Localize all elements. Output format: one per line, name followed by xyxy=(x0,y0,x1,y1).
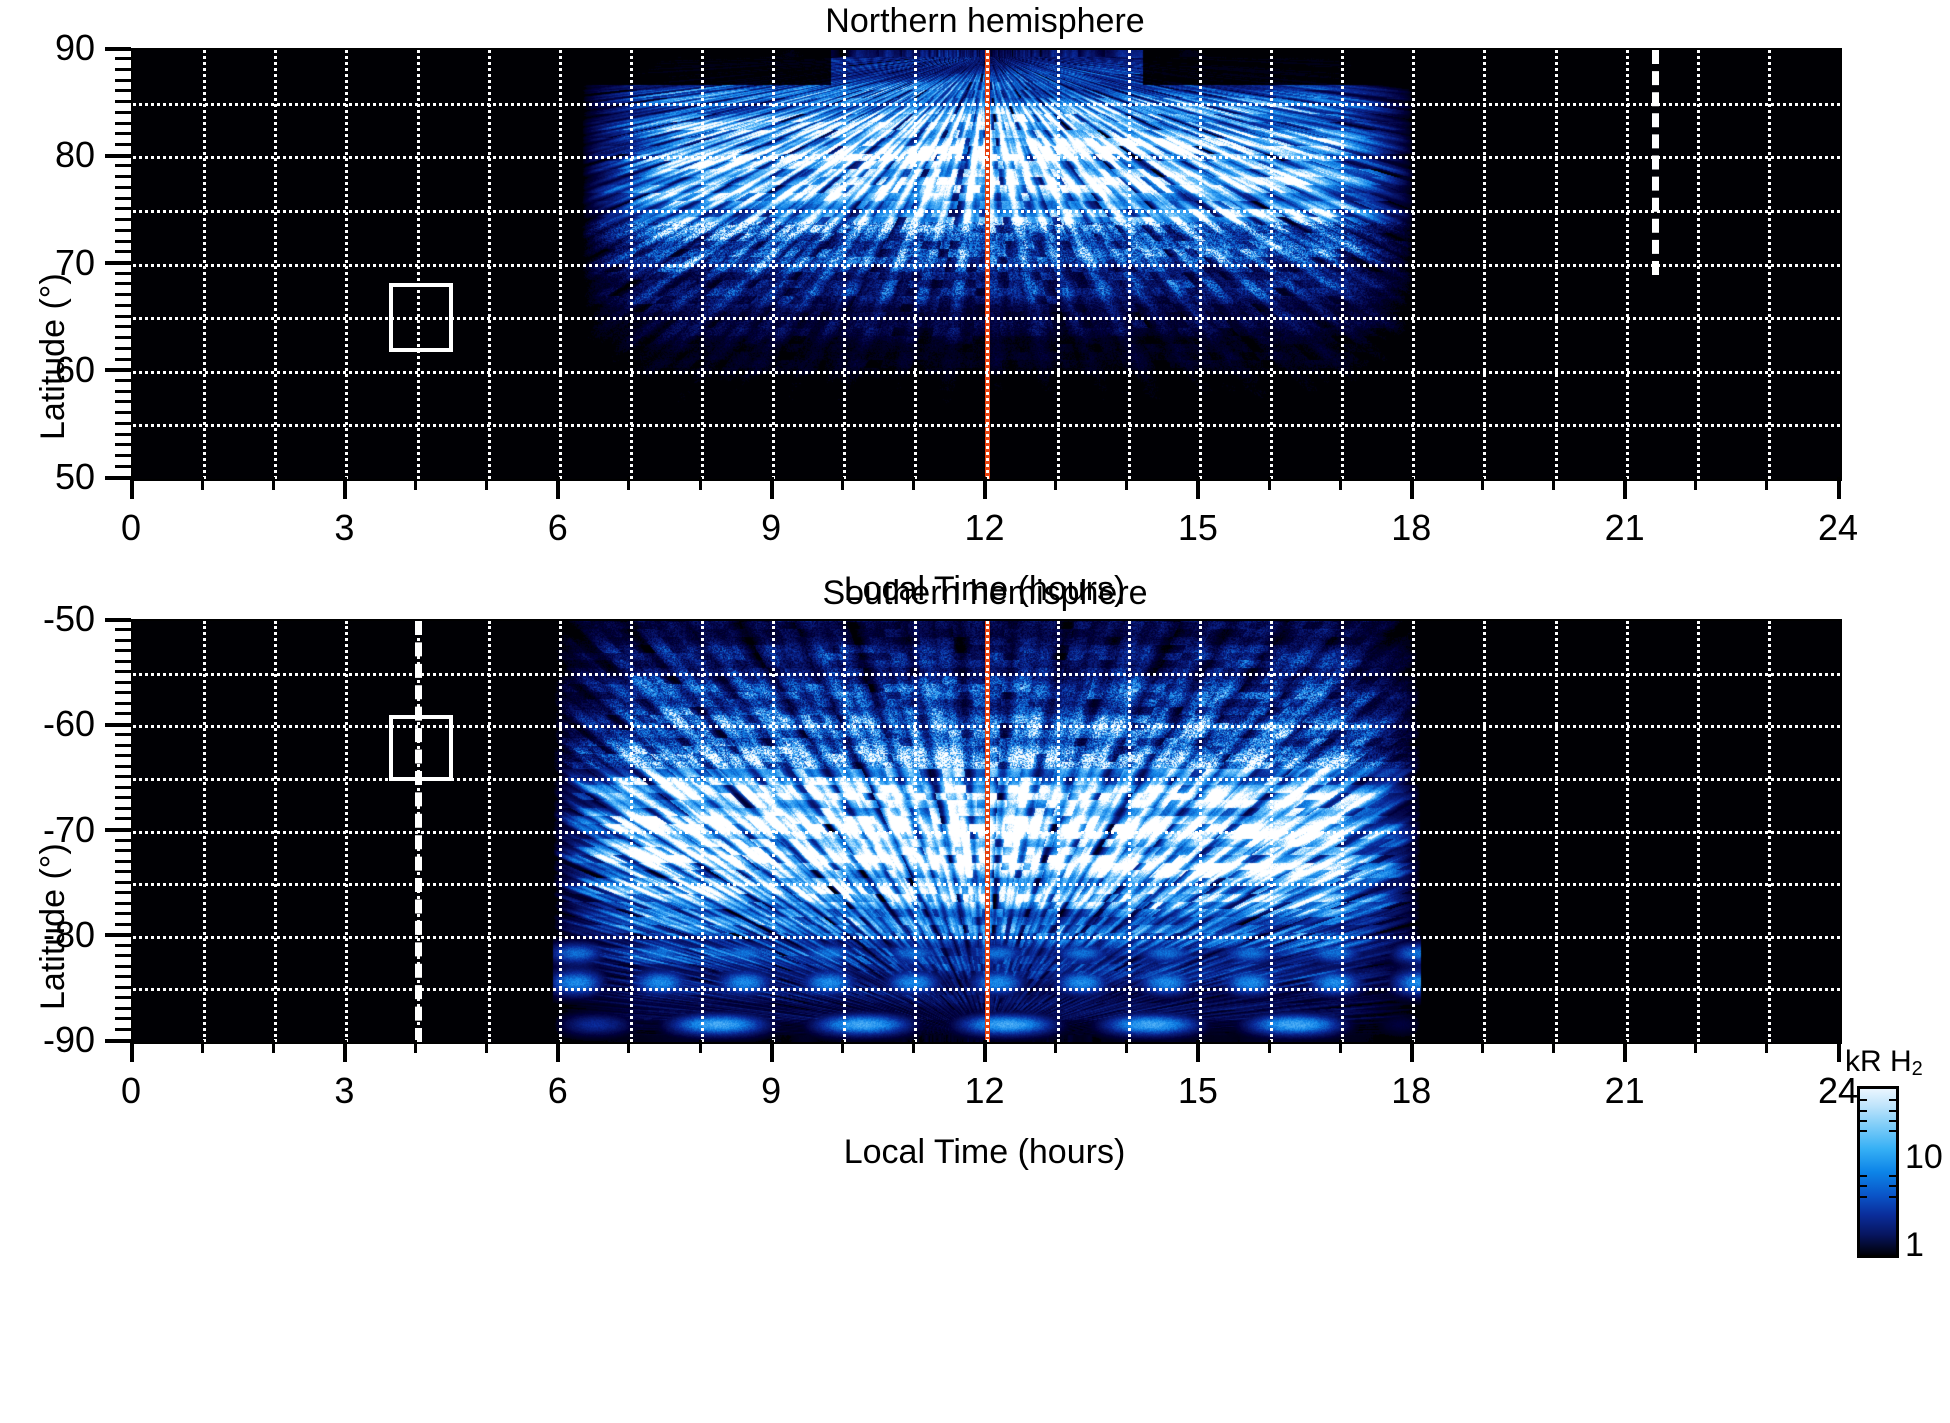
xtick-minor xyxy=(912,477,915,490)
xtick-major xyxy=(1837,1040,1841,1062)
xaxis-label-southern: Local Time (hours) xyxy=(131,1133,1838,1172)
ytick-minor xyxy=(115,691,131,694)
ytick-minor xyxy=(115,143,131,146)
xtick-label: 3 xyxy=(334,507,354,549)
xtick-major xyxy=(1196,477,1200,499)
xtick-minor xyxy=(1125,477,1128,490)
ytick-minor xyxy=(115,465,131,468)
ytick-minor xyxy=(115,839,131,842)
ytick-minor xyxy=(115,358,131,361)
ytick-minor xyxy=(115,111,131,114)
xtick-major xyxy=(1196,1040,1200,1062)
xtick-minor xyxy=(841,477,844,490)
xtick-label: 21 xyxy=(1605,1070,1645,1112)
ytick-minor xyxy=(115,315,131,318)
ytick-minor xyxy=(115,443,131,446)
xtick-minor xyxy=(485,477,488,490)
ytick-label: 60 xyxy=(0,349,95,391)
colorbar-minor-tick xyxy=(1889,1099,1896,1101)
ytick-minor xyxy=(115,881,131,884)
xtick-minor xyxy=(699,477,702,490)
ytick-label: -50 xyxy=(0,598,95,640)
ytick-label: 90 xyxy=(0,27,95,69)
ytick-minor xyxy=(115,390,131,393)
xtick-minor xyxy=(1694,1040,1697,1053)
xtick-minor xyxy=(912,1040,915,1053)
ytick-minor xyxy=(115,765,131,768)
xtick-minor xyxy=(627,477,630,490)
colorbar-minor-tick xyxy=(1889,1185,1896,1187)
ytick-minor xyxy=(115,849,131,852)
ytick-minor xyxy=(115,986,131,989)
xtick-minor xyxy=(272,477,275,490)
xtick-label: 18 xyxy=(1391,507,1431,549)
ytick-minor xyxy=(115,860,131,863)
gridline-horizontal xyxy=(133,264,1840,267)
ytick-minor xyxy=(115,325,131,328)
gridline-horizontal xyxy=(133,156,1840,159)
xtick-minor xyxy=(1552,1040,1555,1053)
plot-area-southern[interactable] xyxy=(131,619,1842,1044)
xtick-major xyxy=(983,477,987,499)
ytick-minor xyxy=(115,132,131,135)
ytick-minor xyxy=(115,754,131,757)
xtick-label: 0 xyxy=(121,1070,141,1112)
xtick-major xyxy=(1837,477,1841,499)
xtick-minor xyxy=(1054,1040,1057,1053)
xtick-major xyxy=(130,1040,134,1062)
xtick-major xyxy=(770,477,774,499)
ytick-minor xyxy=(115,68,131,71)
xtick-major xyxy=(1410,1040,1414,1062)
xtick-minor xyxy=(201,1040,204,1053)
ytick-minor xyxy=(115,996,131,999)
xtick-minor xyxy=(1765,1040,1768,1053)
colorbar-minor-tick xyxy=(1860,1175,1867,1177)
colorbar-minor-tick xyxy=(1860,1185,1867,1187)
xtick-major xyxy=(130,477,134,499)
gridline-horizontal xyxy=(133,673,1840,676)
ytick-minor xyxy=(115,293,131,296)
colorbar-minor-tick xyxy=(1860,1120,1867,1122)
ytick-minor xyxy=(115,944,131,947)
ytick-major xyxy=(105,933,131,937)
gridline-horizontal xyxy=(133,883,1840,886)
ytick-minor xyxy=(115,175,131,178)
xtick-label: 9 xyxy=(761,1070,781,1112)
ytick-major xyxy=(105,1039,131,1043)
ytick-minor xyxy=(115,660,131,663)
colorbar-minor-tick xyxy=(1860,1110,1867,1112)
ytick-minor xyxy=(115,379,131,382)
ytick-minor xyxy=(115,807,131,810)
colorbar-minor-tick xyxy=(1860,1130,1867,1132)
xtick-minor xyxy=(1481,477,1484,490)
ytick-major xyxy=(105,261,131,265)
xtick-label: 3 xyxy=(334,1070,354,1112)
xtick-minor xyxy=(1054,477,1057,490)
colorbar-minor-tick xyxy=(1860,1196,1867,1198)
ytick-minor xyxy=(115,218,131,221)
xtick-minor xyxy=(272,1040,275,1053)
ytick-minor xyxy=(115,229,131,232)
ytick-minor xyxy=(115,870,131,873)
ytick-major xyxy=(105,723,131,727)
ytick-minor xyxy=(115,712,131,715)
xtick-major xyxy=(1623,477,1627,499)
ytick-minor xyxy=(115,954,131,957)
xtick-minor xyxy=(1552,477,1555,490)
ytick-minor xyxy=(115,164,131,167)
ytick-minor xyxy=(115,304,131,307)
xtick-minor xyxy=(1765,477,1768,490)
xtick-major xyxy=(770,1040,774,1062)
xtick-minor xyxy=(1339,1040,1342,1053)
colorbar-title-subscript: 2 xyxy=(1912,1058,1923,1080)
gridline-horizontal xyxy=(133,103,1840,106)
xtick-major xyxy=(983,1040,987,1062)
xtick-minor xyxy=(414,477,417,490)
ytick-minor xyxy=(115,250,131,253)
gridline-horizontal xyxy=(133,210,1840,213)
ytick-minor xyxy=(115,649,131,652)
ytick-minor xyxy=(115,923,131,926)
xtick-label: 18 xyxy=(1391,1070,1431,1112)
panel-northern-title: Northern hemisphere xyxy=(130,2,1840,41)
colorbar-minor-tick xyxy=(1860,1099,1867,1101)
ytick-label: -70 xyxy=(0,809,95,851)
ytick-minor xyxy=(115,57,131,60)
gridline-horizontal xyxy=(133,831,1840,834)
plot-area-northern[interactable] xyxy=(131,48,1842,481)
ytick-label: 70 xyxy=(0,242,95,284)
ytick-minor xyxy=(115,197,131,200)
xtick-major xyxy=(343,1040,347,1062)
ytick-minor xyxy=(115,411,131,414)
panel-southern-title: Southern hemisphere xyxy=(130,574,1840,613)
xtick-label: 12 xyxy=(964,507,1004,549)
ytick-minor xyxy=(115,240,131,243)
gridline-horizontal xyxy=(133,778,1840,781)
gridline-horizontal xyxy=(133,936,1840,939)
ytick-minor xyxy=(115,1028,131,1031)
xtick-major xyxy=(343,477,347,499)
xtick-label: 6 xyxy=(548,1070,568,1112)
xtick-minor xyxy=(1268,1040,1271,1053)
ytick-minor xyxy=(115,186,131,189)
xtick-minor xyxy=(1268,477,1271,490)
ytick-minor xyxy=(115,79,131,82)
ytick-minor xyxy=(115,628,131,631)
xtick-minor xyxy=(627,1040,630,1053)
ytick-minor xyxy=(115,1007,131,1010)
ytick-major xyxy=(105,828,131,832)
ytick-minor xyxy=(115,817,131,820)
ytick-label: -90 xyxy=(0,1019,95,1061)
ytick-minor xyxy=(115,1017,131,1020)
ytick-minor xyxy=(115,433,131,436)
ytick-minor xyxy=(115,272,131,275)
ytick-minor xyxy=(115,639,131,642)
colorbar-tick-10: 10 xyxy=(1905,1138,1943,1177)
xtick-major xyxy=(1623,1040,1627,1062)
xtick-label: 24 xyxy=(1818,1070,1858,1112)
ytick-minor xyxy=(115,681,131,684)
xtick-label: 6 xyxy=(548,507,568,549)
ytick-minor xyxy=(115,975,131,978)
colorbar-minor-tick xyxy=(1889,1130,1896,1132)
ytick-minor xyxy=(115,282,131,285)
xtick-minor xyxy=(1339,477,1342,490)
colorbar-minor-tick xyxy=(1889,1175,1896,1177)
colorbar-minor-tick xyxy=(1889,1110,1896,1112)
xtick-label: 9 xyxy=(761,507,781,549)
ytick-minor xyxy=(115,670,131,673)
ytick-minor xyxy=(115,454,131,457)
xtick-major xyxy=(556,477,560,499)
ytick-minor xyxy=(115,965,131,968)
xtick-label: 15 xyxy=(1178,1070,1218,1112)
xtick-minor xyxy=(1481,1040,1484,1053)
colorbar-gradient xyxy=(1857,1086,1899,1258)
xtick-label: 15 xyxy=(1178,507,1218,549)
ytick-major xyxy=(105,618,131,622)
ytick-minor xyxy=(115,891,131,894)
ytick-minor xyxy=(115,400,131,403)
xtick-major xyxy=(1410,477,1414,499)
ytick-minor xyxy=(115,336,131,339)
xtick-minor xyxy=(414,1040,417,1053)
reference-dashed-line-northern xyxy=(1652,50,1659,275)
ytick-label: 50 xyxy=(0,456,95,498)
xtick-label: 24 xyxy=(1818,507,1858,549)
xtick-minor xyxy=(1694,477,1697,490)
xtick-minor xyxy=(201,477,204,490)
colorbar-tick-1: 1 xyxy=(1905,1226,1924,1265)
gridline-horizontal xyxy=(133,725,1840,728)
ytick-label: -80 xyxy=(0,914,95,956)
ytick-minor xyxy=(115,786,131,789)
ytick-minor xyxy=(115,207,131,210)
colorbar: kR H2 10 1 xyxy=(1845,1045,1950,1275)
gridline-horizontal xyxy=(133,424,1840,427)
xtick-major xyxy=(556,1040,560,1062)
ytick-label: 80 xyxy=(0,134,95,176)
colorbar-minor-tick xyxy=(1889,1120,1896,1122)
ytick-minor xyxy=(115,347,131,350)
ytick-minor xyxy=(115,702,131,705)
xtick-label: 0 xyxy=(121,507,141,549)
ytick-minor xyxy=(115,902,131,905)
gridline-horizontal xyxy=(133,371,1840,374)
ytick-major xyxy=(105,476,131,480)
ytick-minor xyxy=(115,100,131,103)
xtick-label: 21 xyxy=(1605,507,1645,549)
xtick-minor xyxy=(841,1040,844,1053)
xtick-minor xyxy=(699,1040,702,1053)
gridline-horizontal xyxy=(133,317,1840,320)
xtick-label: 12 xyxy=(964,1070,1004,1112)
ytick-minor xyxy=(115,775,131,778)
ytick-major xyxy=(105,368,131,372)
xtick-minor xyxy=(485,1040,488,1053)
ytick-minor xyxy=(115,89,131,92)
ytick-minor xyxy=(115,422,131,425)
ytick-major xyxy=(105,154,131,158)
xtick-minor xyxy=(1125,1040,1128,1053)
ytick-minor xyxy=(115,733,131,736)
ytick-minor xyxy=(115,744,131,747)
ytick-minor xyxy=(115,912,131,915)
ytick-minor xyxy=(115,796,131,799)
ytick-label: -60 xyxy=(0,703,95,745)
ytick-major xyxy=(105,47,131,51)
ytick-minor xyxy=(115,122,131,125)
colorbar-minor-tick xyxy=(1889,1196,1896,1198)
gridline-horizontal xyxy=(133,988,1840,991)
